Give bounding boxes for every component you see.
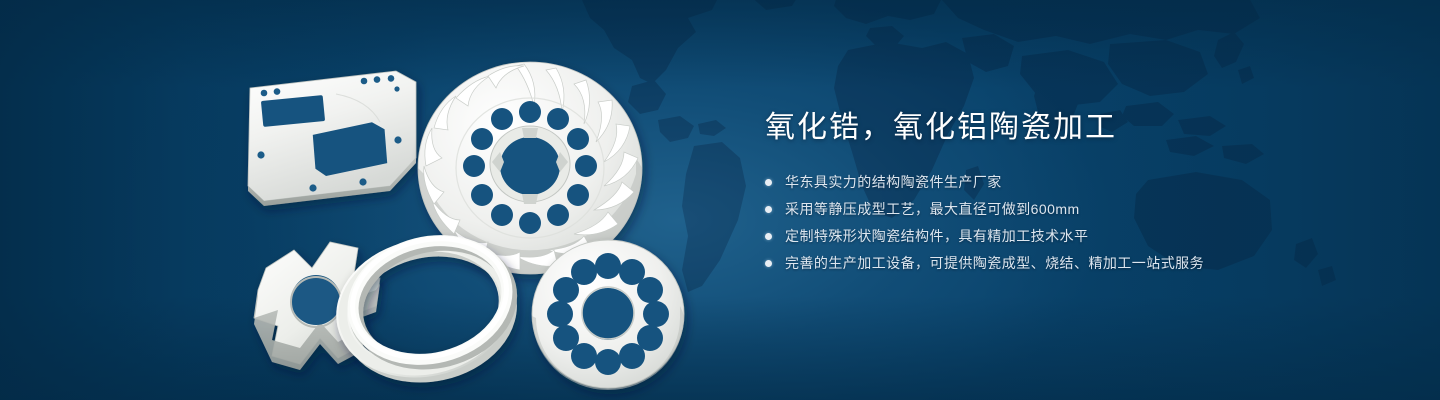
ceramic-perforated-disc-part (532, 240, 684, 390)
list-item: 定制特殊形状陶瓷结构件，具有精加工技术水平 (765, 225, 1385, 247)
feature-text: 华东具实力的结构陶瓷件生产厂家 (785, 171, 1002, 193)
bullet-dot-icon (765, 233, 772, 240)
bullet-dot-icon (765, 179, 772, 186)
feature-list: 华东具实力的结构陶瓷件生产厂家 采用等静压成型工艺，最大直径可做到600mm 定… (765, 171, 1385, 274)
feature-text: 采用等静压成型工艺，最大直径可做到600mm (785, 198, 1080, 220)
bullet-dot-icon (765, 260, 772, 267)
ceramic-plate-part (248, 71, 416, 206)
list-item: 华东具实力的结构陶瓷件生产厂家 (765, 171, 1385, 193)
banner-copy: 氧化锆，氧化铝陶瓷加工 华东具实力的结构陶瓷件生产厂家 采用等静压成型工艺，最大… (765, 106, 1385, 279)
ceramic-products-photo (228, 36, 698, 388)
page-title: 氧化锆，氧化铝陶瓷加工 (765, 106, 1385, 150)
list-item: 完善的生产加工设备，可提供陶瓷成型、烧结、精加工一站式服务 (765, 252, 1385, 274)
bullet-dot-icon (765, 206, 772, 213)
feature-text: 定制特殊形状陶瓷结构件，具有精加工技术水平 (785, 225, 1088, 247)
list-item: 采用等静压成型工艺，最大直径可做到600mm (765, 198, 1385, 220)
feature-text: 完善的生产加工设备，可提供陶瓷成型、烧结、精加工一站式服务 (785, 252, 1204, 274)
ceramic-processing-banner: 氧化锆，氧化铝陶瓷加工 华东具实力的结构陶瓷件生产厂家 采用等静压成型工艺，最大… (0, 0, 1440, 400)
